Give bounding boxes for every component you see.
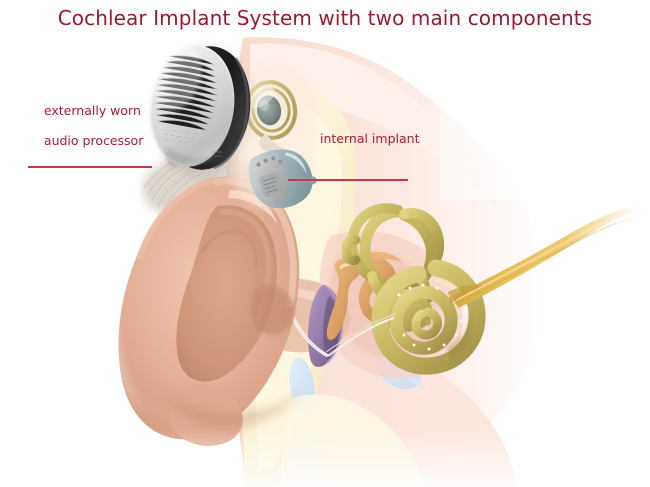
callout-implant-rule [288, 179, 408, 181]
callout-processor-line2: audio processor [44, 133, 143, 148]
callout-internal-implant: internal implant [288, 101, 419, 211]
cochlea-apex [425, 319, 431, 325]
callout-implant-line1: internal implant [288, 131, 419, 146]
callout-externally-worn-audio-processor: externally worn audio processor [28, 88, 152, 198]
callout-processor-rule [28, 166, 152, 168]
callout-processor-line1: externally worn [44, 103, 141, 118]
page-title: Cochlear Implant System with two main co… [0, 6, 650, 30]
illustration-canvas: Cochlear Implant System with two main co… [0, 0, 650, 487]
cochlear-implant-illustration [0, 0, 650, 487]
